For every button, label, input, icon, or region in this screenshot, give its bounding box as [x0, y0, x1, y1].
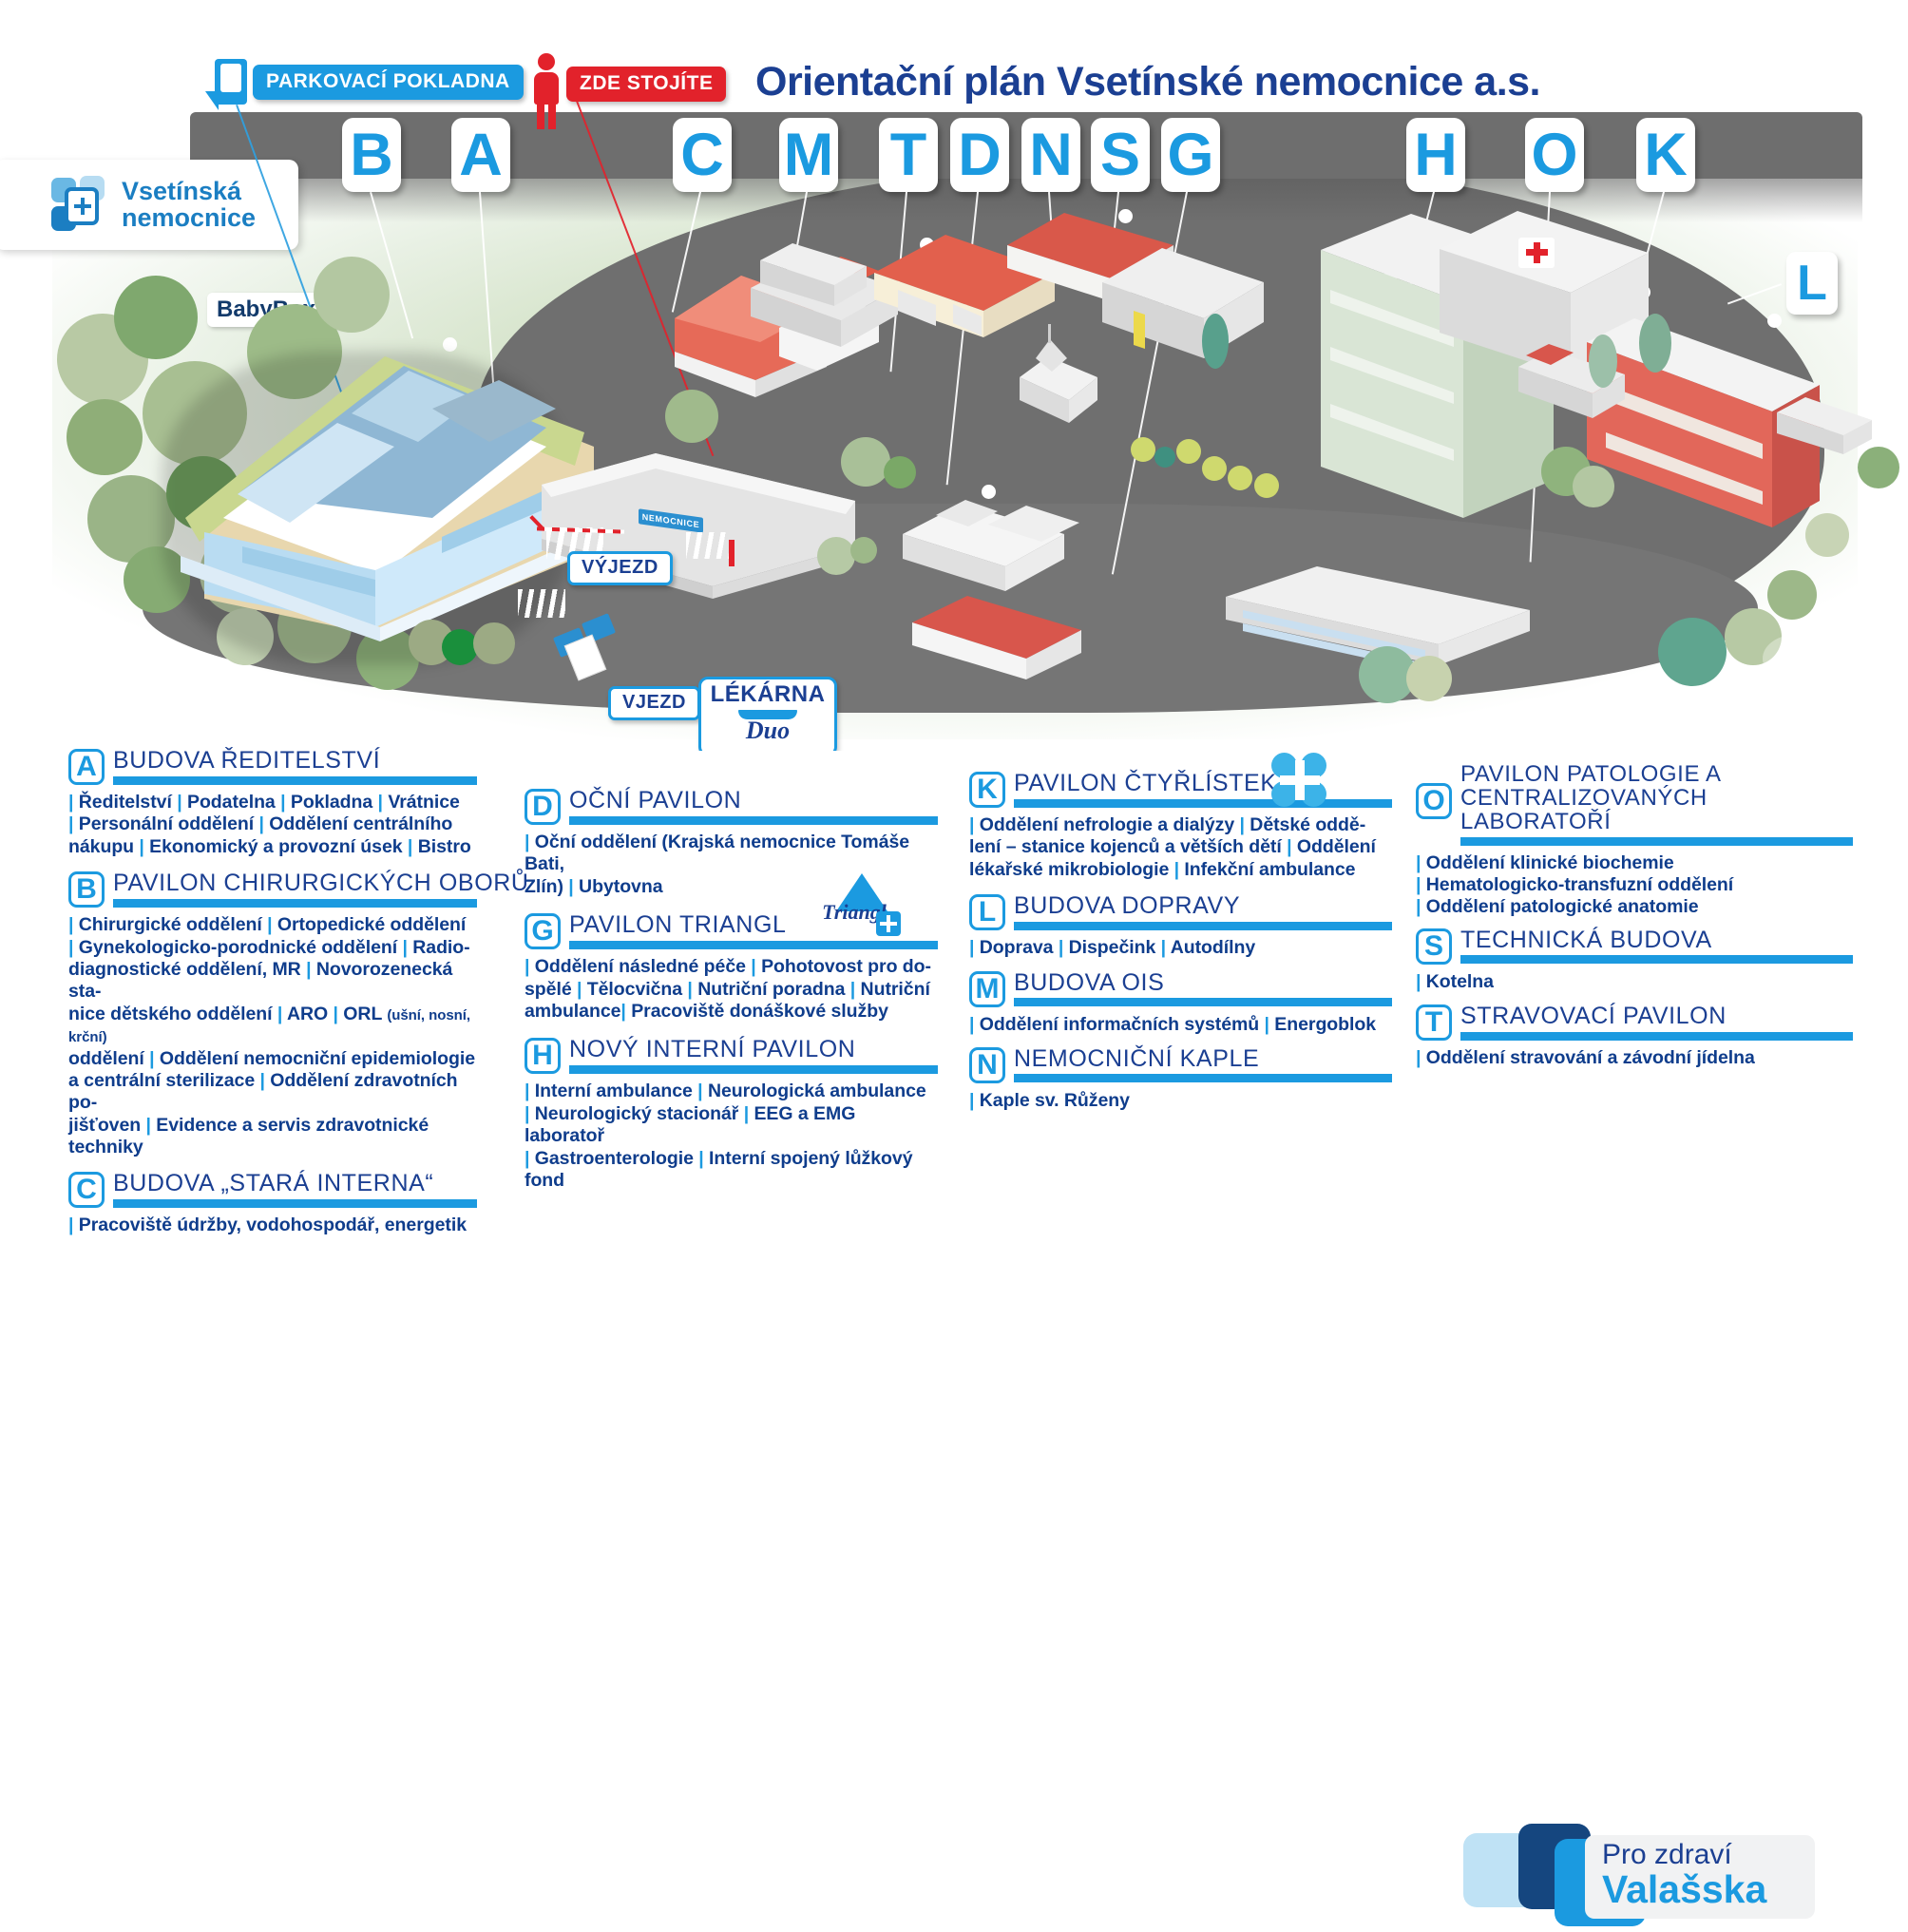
tree-icon [442, 629, 478, 665]
map-letter-T[interactable]: T [879, 118, 938, 192]
bollard-icon [729, 540, 735, 566]
legend-entry-H[interactable]: H NOVÝ INTERNÍ PAVILON | Interní ambulan… [525, 1038, 938, 1192]
legend-title-A: BUDOVA ŘEDITELSTVÍ [113, 749, 477, 774]
pharmacy-line2: Duo [701, 719, 834, 741]
pro-zdravi-line2: Valašska [1602, 1869, 1815, 1910]
legend-column-4: O PAVILON PATOLOGIE A CENTRALIZOVANÝCH L… [1416, 762, 1853, 1076]
legend-entry-T[interactable]: T STRAVOVACÍ PAVILON | Oddělení stravová… [1416, 1004, 1853, 1069]
tree-icon [1589, 335, 1617, 388]
legend-underline [1460, 1032, 1853, 1041]
legend-items-S: | Kotelna [1416, 971, 1853, 993]
signature-mark [1763, 635, 1827, 682]
legend-title-B: PAVILON CHIRURGICKÝCH OBORŮ [113, 871, 477, 896]
building-S[interactable] [1097, 223, 1269, 385]
tree-icon [1658, 618, 1727, 686]
tree-icon [1228, 466, 1252, 490]
clover-logo-icon [1271, 753, 1328, 808]
parking-cashier-icon [215, 59, 247, 105]
legend: A BUDOVA ŘEDITELSTVÍ | Ředitelství | Pod… [0, 749, 1908, 1241]
tree-icon [665, 390, 718, 443]
legend-badge-M: M [969, 971, 1005, 1007]
callout-entrance: VJEZD [608, 686, 700, 720]
hospital-logo-line1: Vsetínská [122, 179, 256, 205]
page-title: Orientační plán Vsetínské nemocnice a.s. [755, 59, 1540, 105]
tree-icon [841, 437, 890, 487]
tree-icon [1202, 314, 1229, 369]
legend-badge-T: T [1416, 1004, 1452, 1041]
map-letter-N[interactable]: N [1021, 118, 1080, 192]
hospital-logo-line2: nemocnice [122, 205, 256, 232]
legend-entry-M[interactable]: M BUDOVA OIS | Oddělení informačních sys… [969, 971, 1392, 1036]
tree-icon [817, 537, 855, 575]
legend-items-A: | Ředitelství | Podatelna | Pokladna | V… [68, 792, 477, 858]
legend-underline [569, 1065, 938, 1074]
legend-items-B: | Chirurgické oddělení | Ortopedické odd… [68, 914, 477, 1158]
building-K-annex [1518, 331, 1632, 426]
red-cross-icon [1518, 238, 1555, 268]
tree-icon [1202, 456, 1227, 481]
pharmacy-badge: LÉKÁRNA Duo [698, 677, 837, 751]
tree-icon [1805, 513, 1849, 557]
legend-entry-L[interactable]: L BUDOVA DOPRAVY | Doprava | Dispečink |… [969, 894, 1392, 959]
legend-column-2: D OČNÍ PAVILON | Oční oddělení (Krajská … [525, 789, 938, 1197]
legend-underline [1014, 922, 1392, 930]
legend-badge-S: S [1416, 928, 1452, 965]
legend-badge-O: O [1416, 783, 1452, 819]
legend-title-C: BUDOVA „STARÁ INTERNA“ [113, 1172, 477, 1196]
tree-icon [67, 399, 143, 475]
legend-items-T: | Oddělení stravování a závodní jídelna [1416, 1047, 1853, 1069]
legend-badge-A: A [68, 749, 105, 785]
tree-icon [1154, 447, 1175, 468]
legend-entry-N[interactable]: N NEMOCNIČNÍ KAPLE | Kaple sv. Růženy [969, 1047, 1392, 1112]
triangl-logo-icon: Triangl [802, 873, 906, 930]
legend-title-T: STRAVOVACÍ PAVILON [1460, 1004, 1853, 1029]
legend-entry-A[interactable]: A BUDOVA ŘEDITELSTVÍ | Ředitelství | Pod… [68, 749, 477, 858]
legend-badge-B: B [68, 871, 105, 908]
legend-underline [1460, 837, 1853, 846]
legend-entry-K[interactable]: K PAVILON ČTYŘLÍSTEK | Oddělení nefrolog… [969, 772, 1392, 881]
tree-icon [850, 537, 877, 564]
map-letter-C[interactable]: C [673, 118, 732, 192]
map-letter-D[interactable]: D [950, 118, 1009, 192]
tree-icon [1176, 439, 1201, 464]
legend-badge-L: L [969, 894, 1005, 930]
tree-icon [1573, 466, 1614, 507]
legend-badge-D: D [525, 789, 561, 825]
legend-entry-G[interactable]: G PAVILON TRIANGL Triangl | Oddělení nás… [525, 913, 938, 1023]
legend-items-H: | Interní ambulance | Neurologická ambul… [525, 1081, 938, 1192]
legend-title-K: PAVILON ČTYŘLÍSTEK [1014, 772, 1392, 796]
legend-title-O: PAVILON PATOLOGIE A CENTRALIZOVANÝCH LAB… [1460, 762, 1853, 834]
legend-badge-C: C [68, 1172, 105, 1208]
legend-items-G: | Oddělení následné péče | Pohotovost pr… [525, 956, 938, 1023]
legend-underline [113, 776, 477, 785]
pro-zdravi-valasska-logo: Pro zdraví Valašska [1463, 1818, 1815, 1932]
callout-you-are-here: ZDE STOJÍTE [566, 67, 726, 102]
tree-icon [1767, 570, 1817, 620]
legend-badge-K: K [969, 772, 1005, 808]
legend-title-D: OČNÍ PAVILON [569, 789, 938, 813]
tree-icon [884, 456, 916, 488]
pharmacy-line1: LÉKÁRNA [701, 681, 834, 708]
hospital-logo: Vsetínská nemocnice [0, 160, 298, 250]
tree-icon [1858, 447, 1899, 488]
legend-underline [569, 816, 938, 825]
pro-zdravi-line1: Pro zdraví [1602, 1841, 1815, 1869]
tree-icon [1254, 473, 1279, 498]
legend-items-M: | Oddělení informačních systémů | Energo… [969, 1014, 1392, 1036]
legend-title-S: TECHNICKÁ BUDOVA [1460, 928, 1853, 953]
legend-underline [569, 941, 938, 949]
legend-column-3: K PAVILON ČTYŘLÍSTEK | Oddělení nefrolog… [969, 772, 1392, 1118]
map-letter-M[interactable]: M [779, 118, 838, 192]
legend-entry-S[interactable]: S TECHNICKÁ BUDOVA | Kotelna [1416, 928, 1853, 993]
map-letter-A[interactable]: A [451, 118, 510, 192]
building-small-top [760, 228, 874, 318]
legend-items-N: | Kaple sv. Růženy [969, 1090, 1392, 1112]
legend-underline [1014, 799, 1392, 808]
callout-exit: VÝJEZD [567, 551, 673, 585]
tree-icon [1639, 314, 1671, 373]
legend-entry-B[interactable]: B PAVILON CHIRURGICKÝCH OBORŮ | Chirurgi… [68, 871, 477, 1158]
crosswalk-icon-3 [686, 532, 730, 559]
legend-badge-N: N [969, 1047, 1005, 1083]
callout-parking-cashier: PARKOVACÍ POKLADNA [253, 65, 524, 100]
tree-icon [1406, 656, 1452, 701]
hospital-logo-icon [51, 176, 110, 235]
legend-underline [113, 899, 477, 908]
legend-underline [1014, 1074, 1392, 1082]
legend-items-L: | Doprava | Dispečink | Autodílny [969, 937, 1392, 959]
legend-items-K: | Oddělení nefrologie a dialýzy | Dětské… [969, 814, 1392, 881]
tree-icon [1131, 437, 1155, 462]
legend-title-H: NOVÝ INTERNÍ PAVILON [569, 1038, 938, 1062]
building-red-lower [912, 584, 1102, 698]
legend-entry-C[interactable]: C BUDOVA „STARÁ INTERNA“ | Pracoviště úd… [68, 1172, 477, 1236]
legend-underline [113, 1199, 477, 1208]
legend-items-O: | Oddělení klinické biochemie| Hematolog… [1416, 852, 1853, 919]
legend-title-L: BUDOVA DOPRAVY [1014, 894, 1392, 919]
campus-map: Orientační plán Vsetínské nemocnice a.s.… [0, 0, 1908, 751]
crosswalk-icon-2 [518, 589, 565, 618]
legend-underline [1014, 998, 1392, 1006]
legend-underline [1460, 955, 1853, 964]
legend-items-C: | Pracoviště údržby, vodohospodář, energ… [68, 1215, 477, 1236]
tree-icon [473, 622, 515, 664]
legend-title-N: NEMOCNIČNÍ KAPLE [1014, 1047, 1392, 1072]
map-letter-G[interactable]: G [1161, 118, 1220, 192]
legend-entry-O[interactable]: O PAVILON PATOLOGIE A CENTRALIZOVANÝCH L… [1416, 762, 1853, 919]
legend-title-M: BUDOVA OIS [1014, 971, 1392, 996]
legend-badge-G: G [525, 913, 561, 949]
map-letter-S[interactable]: S [1091, 118, 1150, 192]
legend-badge-H: H [525, 1038, 561, 1074]
legend-column-1: A BUDOVA ŘEDITELSTVÍ | Ředitelství | Pod… [68, 749, 477, 1243]
map-letter-B[interactable]: B [342, 118, 401, 192]
